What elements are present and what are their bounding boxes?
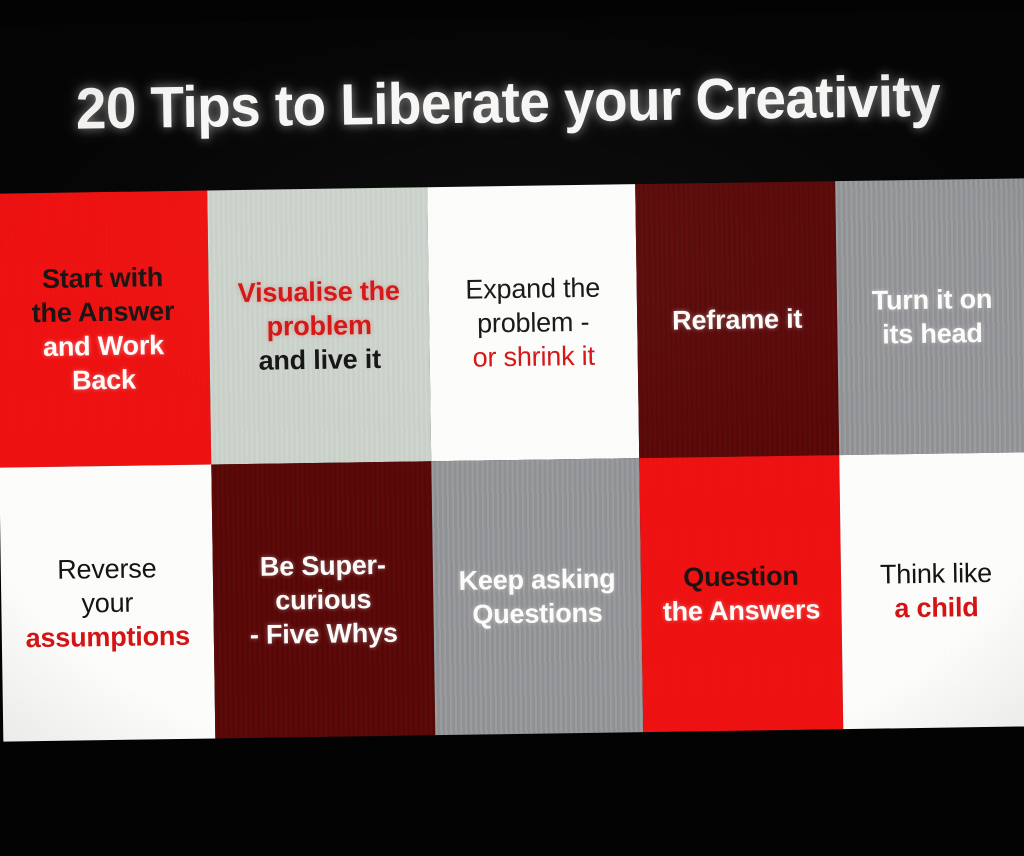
tip-text-1: Start with the Answer and Work Back xyxy=(31,260,176,398)
tip-line: and Work xyxy=(32,328,175,364)
presentation-slide: 20 Tips to Liberate your Creativity Star… xyxy=(0,10,1024,741)
tip-text-8: Keep asking Questions xyxy=(458,561,616,631)
tip-text-10: Think like a child xyxy=(880,556,993,626)
tip-cell-10[interactable]: Think like a child xyxy=(839,452,1024,729)
tip-cell-5[interactable]: Turn it on its head xyxy=(835,178,1024,455)
tip-text-3: Expand the problem - or shrink it xyxy=(465,271,601,375)
tip-line: problem - xyxy=(466,305,601,341)
tip-line: Turn it on xyxy=(871,282,992,318)
tip-text-4: Reframe it xyxy=(672,302,803,338)
tip-line: the Answers xyxy=(663,592,821,628)
tip-line: its head xyxy=(872,316,993,352)
tip-text-5: Turn it on its head xyxy=(871,282,992,352)
tip-line: Question xyxy=(662,558,820,594)
tip-line: Keep asking xyxy=(458,561,615,597)
tip-text-6: Reverse your assumptions xyxy=(24,551,190,655)
tip-cell-2[interactable]: Visualise the problem and live it xyxy=(207,187,431,464)
tip-text-9: Question the Answers xyxy=(662,558,820,628)
tip-line: a child xyxy=(880,590,993,626)
tip-cell-7[interactable]: Be Super- curious - Five Whys xyxy=(211,461,435,738)
tip-line: your xyxy=(25,585,190,621)
tip-text-7: Be Super- curious - Five Whys xyxy=(249,548,398,652)
tip-line: problem xyxy=(238,308,400,344)
tip-line: assumptions xyxy=(25,619,190,655)
tip-line: or shrink it xyxy=(466,339,601,375)
slide-photograph: 20 Tips to Liberate your Creativity Star… xyxy=(0,0,1024,856)
tip-cell-3[interactable]: Expand the problem - or shrink it xyxy=(427,184,639,461)
tip-cell-6[interactable]: Reverse your assumptions xyxy=(0,464,215,741)
tip-line: - Five Whys xyxy=(250,616,398,652)
tip-line: Back xyxy=(32,362,175,398)
tip-line: Reframe it xyxy=(672,302,803,338)
tip-line: Expand the xyxy=(465,271,600,307)
tip-cell-1[interactable]: Start with the Answer and Work Back xyxy=(0,191,211,468)
slide-title-band: 20 Tips to Liberate your Creativity xyxy=(0,10,1024,193)
tip-cell-4[interactable]: Reframe it xyxy=(635,181,839,458)
tip-cell-8[interactable]: Keep asking Questions xyxy=(431,458,643,735)
tip-line: Start with xyxy=(31,260,174,296)
tip-line: the Answer xyxy=(31,294,174,330)
tip-line: Questions xyxy=(459,595,616,631)
tip-cell-9[interactable]: Question the Answers xyxy=(639,455,843,732)
tip-text-2: Visualise the problem and live it xyxy=(237,274,400,378)
tip-line: Visualise the xyxy=(237,274,399,310)
tips-grid: Start with the Answer and Work Back Visu… xyxy=(0,178,1024,741)
page-title: 20 Tips to Liberate your Creativity xyxy=(75,62,940,143)
tip-line: curious xyxy=(249,582,397,618)
tip-line: Think like xyxy=(880,556,993,592)
tip-line: Reverse xyxy=(24,551,189,587)
tip-line: Be Super- xyxy=(249,548,397,584)
tip-line: and live it xyxy=(238,342,400,378)
